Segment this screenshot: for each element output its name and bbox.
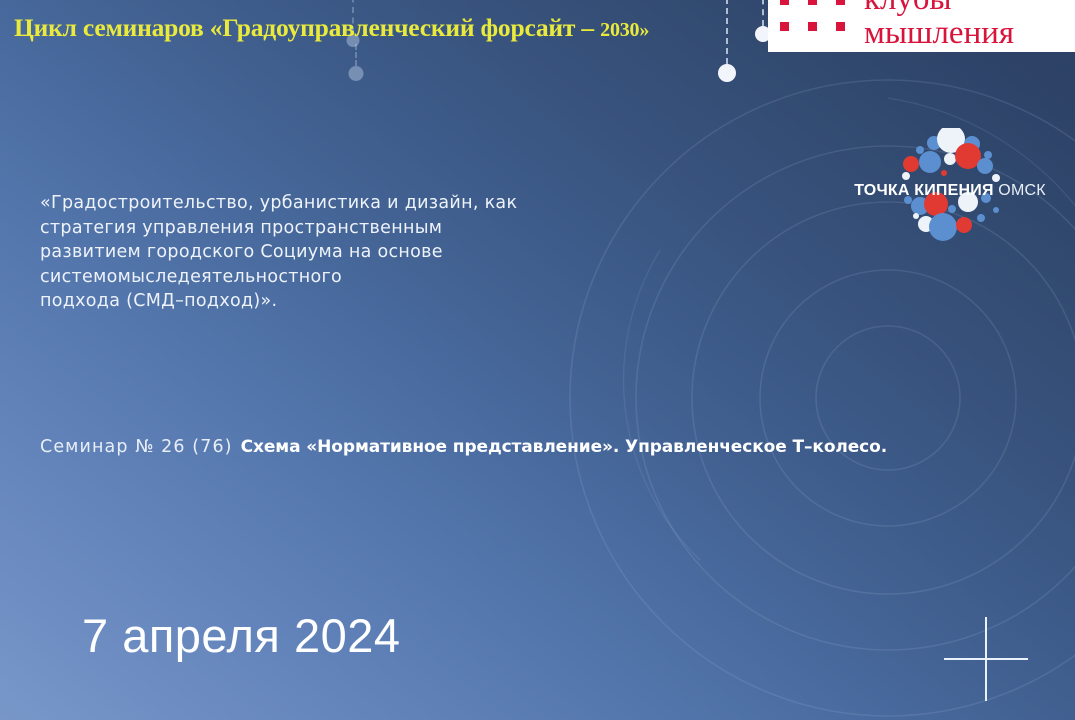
klub-dot: [836, 22, 845, 31]
tk-dot: [903, 156, 919, 172]
tk-dot: [977, 214, 985, 222]
tk-name-bold: ТОЧКА КИПЕНИЯ: [854, 182, 993, 199]
quote-line: системомыследеятельностного: [40, 265, 680, 290]
slide-title: Цикл семинаров «Градоуправленческий форс…: [14, 13, 649, 43]
klub-wordmark: клубы мышления: [864, 0, 1014, 50]
quote-line: развитием городского Социума на основе: [40, 240, 680, 265]
seminar-quote-text: «Градостроительство, урбанистика и дизай…: [40, 191, 680, 314]
crosshair-vertical-bar: [985, 617, 987, 701]
slide-title-year: 2030»: [600, 19, 649, 41]
tk-dot: [929, 213, 957, 241]
slide-date: 7 апреля 2024: [82, 608, 401, 663]
tk-name-light: ОМСК: [994, 182, 1046, 199]
hanging-pin: [348, 44, 363, 81]
klub-dot: [836, 0, 845, 5]
decor-ring: [692, 202, 1075, 594]
tk-dot: [992, 174, 1000, 182]
tk-dot: [977, 158, 993, 174]
tk-dot: [948, 205, 956, 213]
tochka-kipeniya-omsk-logo: ТОЧКА КИПЕНИЯ ОМСК: [848, 128, 1052, 246]
klub-line-1: клубы: [864, 0, 1014, 16]
klub-dot: [808, 0, 817, 5]
hanging-pin: [718, 0, 736, 82]
slide-title-main: Цикл семинаров «Градоуправленческий форс…: [14, 13, 600, 42]
quote-line: подхода (СМД–подход)».: [40, 289, 680, 314]
pin-wire: [762, 0, 764, 26]
klub-dot: [780, 22, 789, 31]
crosshair-plus-icon: [944, 617, 1028, 701]
tk-dot: [913, 213, 919, 219]
decor-ring: [760, 270, 1016, 526]
klub-dot: [808, 22, 817, 31]
kluby-myshleniya-logo: клубы мышления: [768, 0, 1075, 52]
seminar-line: Семинар № 26 (76)Схема «Нормативное пред…: [40, 437, 887, 457]
klub-dots-grid: [780, 0, 854, 42]
tk-dot: [956, 217, 972, 233]
seminar-topic: Схема «Нормативное представление». Управ…: [241, 437, 887, 457]
klub-line-2: мышления: [864, 16, 1014, 50]
klub-dot: [780, 0, 789, 5]
tk-dot: [916, 146, 924, 154]
tk-dot: [941, 170, 947, 176]
tk-dot: [919, 151, 941, 173]
presentation-slide: Цикл семинаров «Градоуправленческий форс…: [0, 0, 1075, 720]
tk-dot: [902, 172, 910, 180]
pin-wire: [726, 0, 728, 64]
pin-bulb: [348, 66, 363, 81]
tk-dot: [993, 207, 999, 213]
tk-dot: [984, 151, 992, 159]
quote-line: стратегия управления пространственным: [40, 216, 680, 241]
crosshair-horizontal-bar: [944, 658, 1028, 660]
quote-line: «Градостроительство, урбанистика и дизай…: [40, 191, 680, 216]
tk-wordmark: ТОЧКА КИПЕНИЯ ОМСК: [848, 182, 1052, 200]
pin-wire: [355, 44, 357, 66]
pin-bulb: [718, 64, 736, 82]
tk-dot: [944, 153, 956, 165]
seminar-number: Семинар № 26 (76): [40, 437, 233, 457]
